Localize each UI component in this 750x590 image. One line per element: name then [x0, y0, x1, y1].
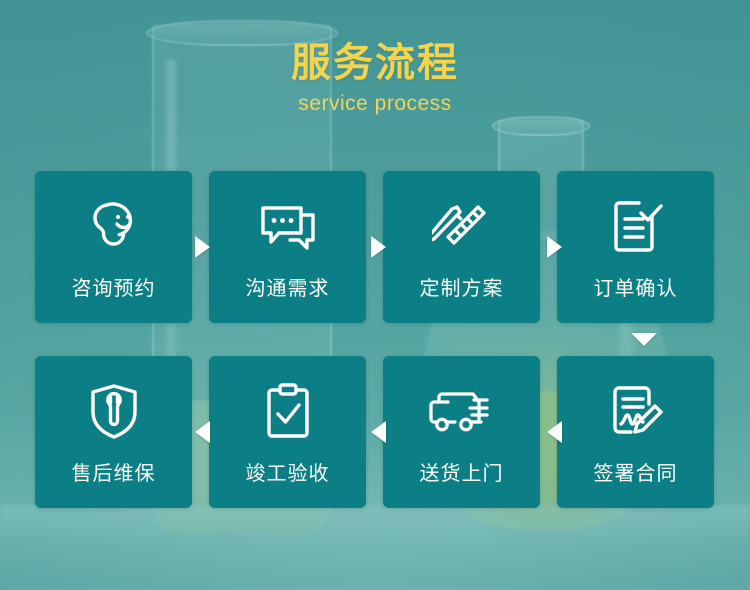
- service-process-banner: 服务流程 service process 咨询预约: [0, 0, 750, 590]
- step-card-label: 签署合同: [557, 457, 714, 486]
- pencil-ruler-icon: [429, 195, 495, 257]
- document-check-icon: [603, 195, 669, 257]
- delivery-truck-icon: [429, 380, 495, 442]
- step-card-label: 竣工验收: [209, 457, 366, 486]
- step-card-label: 定制方案: [383, 272, 540, 301]
- step-card-delivery[interactable]: 送货上门: [383, 356, 540, 508]
- chat-bubbles-icon: [255, 195, 321, 257]
- arrow-step3-to-step4: [547, 236, 562, 258]
- page-subtitle: service process: [0, 92, 750, 116]
- step-card-label: 咨询预约: [35, 272, 192, 301]
- arrow-step6-to-step5: [195, 421, 210, 443]
- process-steps-grid: 咨询预约 沟通需求: [35, 171, 715, 508]
- step-card-label: 送货上门: [383, 457, 540, 486]
- arrow-step7-to-step6: [371, 421, 386, 443]
- phone-smiley-icon: [81, 195, 147, 257]
- arrow-step8-to-step7: [547, 421, 562, 443]
- step-card-communication[interactable]: 沟通需求: [209, 171, 366, 323]
- step-card-order-confirm[interactable]: 订单确认: [557, 171, 714, 323]
- page-title: 服务流程: [0, 40, 750, 86]
- step-card-acceptance[interactable]: 竣工验收: [209, 356, 366, 508]
- step-card-consultation[interactable]: 咨询预约: [35, 171, 192, 323]
- clipboard-check-icon: [255, 380, 321, 442]
- shield-wrench-icon: [81, 380, 147, 442]
- arrow-step2-to-step3: [371, 236, 386, 258]
- banner-heading: 服务流程 service process: [0, 40, 750, 116]
- step-card-label: 订单确认: [557, 272, 714, 301]
- arrow-step1-to-step2: [195, 236, 210, 258]
- step-card-sign-contract[interactable]: 签署合同: [557, 356, 714, 508]
- step-card-label: 沟通需求: [209, 272, 366, 301]
- step-card-label: 售后维保: [35, 457, 192, 486]
- arrow-step4-to-step5: [631, 333, 657, 346]
- step-card-after-sales[interactable]: 售后维保: [35, 356, 192, 508]
- step-card-custom-plan[interactable]: 定制方案: [383, 171, 540, 323]
- contract-pen-icon: [603, 380, 669, 442]
